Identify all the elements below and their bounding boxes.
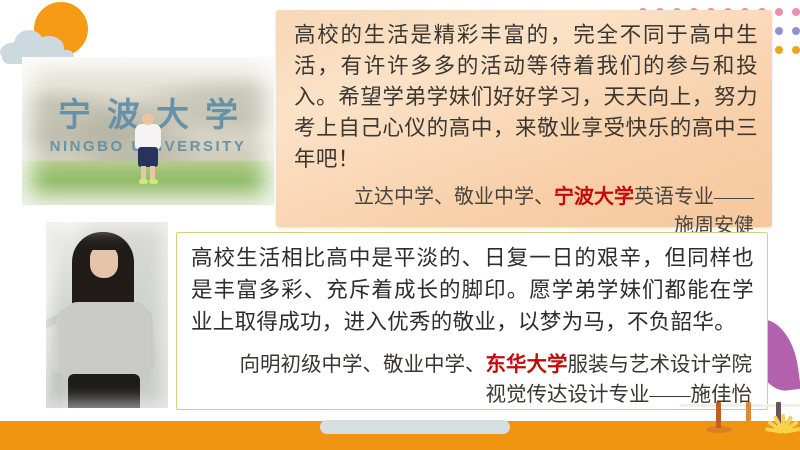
testimonial-2-body: 高校生活相比高中是平淡的、日复一日的艰辛，但同样也是丰富多彩、充斥着成长的脚印。… bbox=[191, 242, 754, 338]
testimonial-card-2: 高校生活相比高中是平淡的、日复一日的艰辛，但同样也是丰富多彩、充斥着成长的脚印。… bbox=[176, 232, 768, 410]
photo-ningbo-university: 宁波大学 NINGBO UNIVERSITY bbox=[22, 57, 274, 205]
testimonial-2-schools: 向明初级中学、敬业中学、 bbox=[240, 354, 486, 376]
testimonial-1-major: 英语专业—— bbox=[634, 186, 754, 208]
cloud-icon bbox=[0, 28, 76, 58]
decoration-dot bbox=[775, 8, 783, 16]
testimonial-2-college: 服装与艺术设计学院 bbox=[568, 354, 753, 376]
testimonial-2-attribution: 向明初级中学、敬业中学、东华大学服装与艺术设计学院 视觉传达设计专业——施佳怡 bbox=[191, 350, 754, 410]
testimonial-1-university: 宁波大学 bbox=[554, 186, 634, 208]
decoration-dot bbox=[792, 27, 800, 35]
decoration-dot bbox=[792, 46, 800, 54]
decoration-dot bbox=[775, 46, 783, 54]
student-figure bbox=[133, 113, 163, 199]
testimonial-1-body: 高校的生活是精彩丰富的，完全不同于高中生活，有许许多多的活动等待着我们的参与和投… bbox=[294, 20, 758, 175]
poster-canvas: 宁波大学 NINGBO UNIVERSITY 高校的生活是精彩丰富的，完全不同于… bbox=[0, 0, 800, 450]
plant-icon bbox=[766, 402, 800, 432]
band-pill-decoration bbox=[320, 420, 510, 434]
decoration-dot bbox=[775, 27, 783, 35]
photo-female-student bbox=[46, 222, 168, 408]
testimonial-card-1: 高校的生活是精彩丰富的，完全不同于高中生活，有许许多多的活动等待着我们的参与和投… bbox=[276, 10, 772, 227]
testimonial-1-schools: 立达中学、敬业中学、 bbox=[354, 186, 554, 208]
decoration-dot bbox=[792, 8, 800, 16]
testimonial-2-university: 东华大学 bbox=[486, 354, 568, 376]
